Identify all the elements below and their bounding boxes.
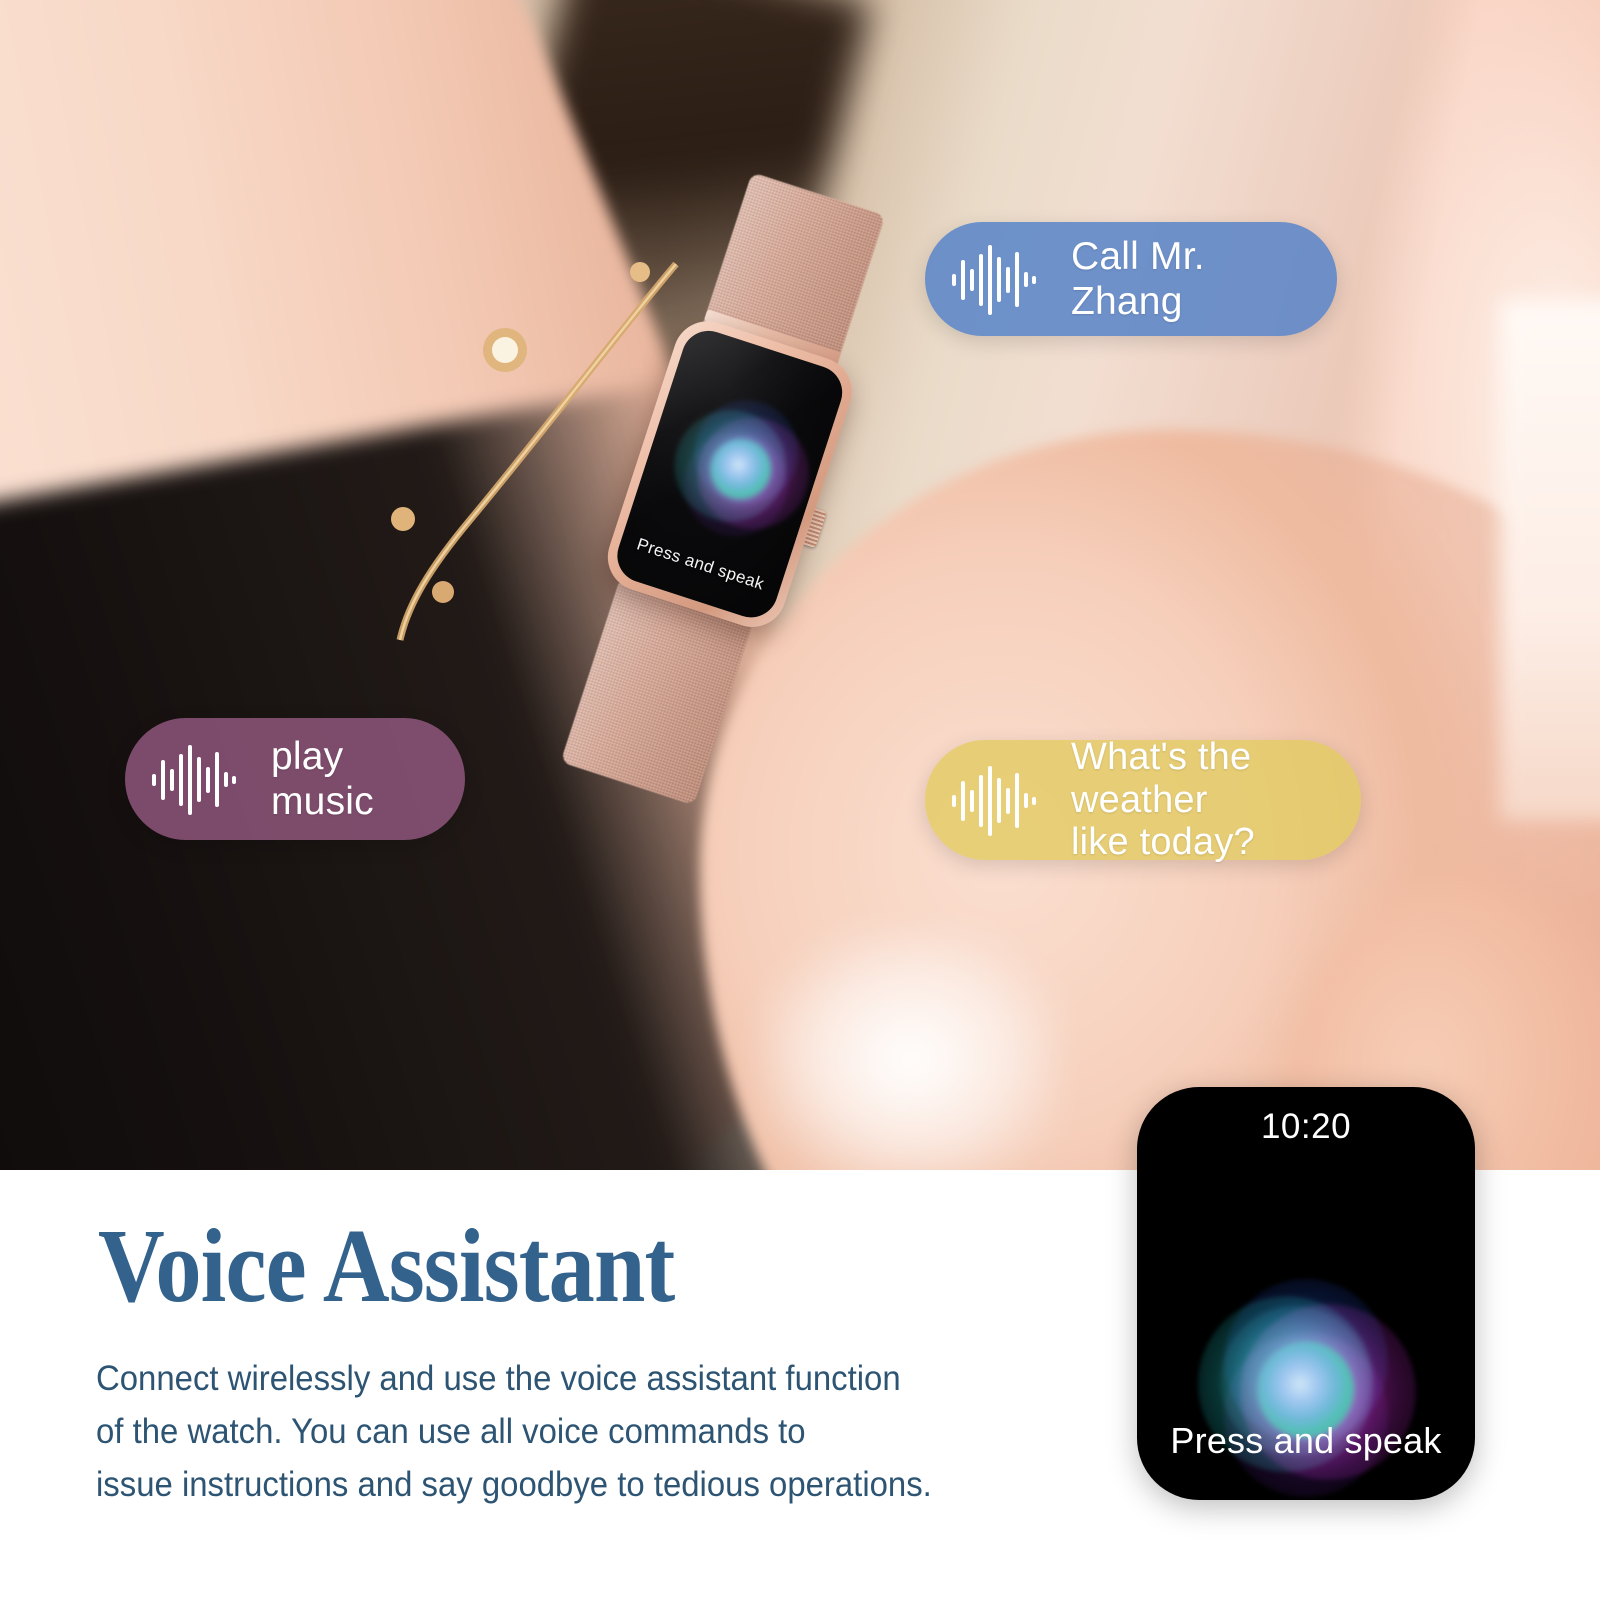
voice-waveform-icon	[951, 764, 1037, 836]
voice-bubble-call[interactable]: Call Mr. Zhang	[925, 222, 1337, 336]
watch-case: Press and speak	[599, 313, 861, 636]
siri-orb	[1191, 1275, 1421, 1500]
voice-waveform-icon	[951, 243, 1037, 315]
voice-bubble-weather[interactable]: What's the weather like today?	[925, 740, 1361, 860]
watch-screen-card[interactable]: 10:20 Press and speak	[1137, 1087, 1475, 1500]
page-description: Connect wirelessly and use the voice ass…	[96, 1352, 998, 1512]
hero-photo: Press and speak Call Mr. Zhang	[0, 0, 1600, 1170]
watch-time: 10:20	[1137, 1107, 1475, 1147]
voice-bubble-label: Call Mr. Zhang	[1071, 234, 1303, 324]
voice-bubble-label: play music	[271, 734, 431, 824]
voice-bubble-label: What's the weather like today?	[1071, 736, 1327, 864]
watch-card-caption: Press and speak	[1137, 1420, 1475, 1462]
voice-waveform-icon	[151, 743, 237, 815]
page-title: Voice Assistant	[98, 1213, 674, 1318]
voice-bubble-music[interactable]: play music	[125, 718, 465, 840]
watch-display[interactable]: Press and speak	[610, 324, 849, 624]
